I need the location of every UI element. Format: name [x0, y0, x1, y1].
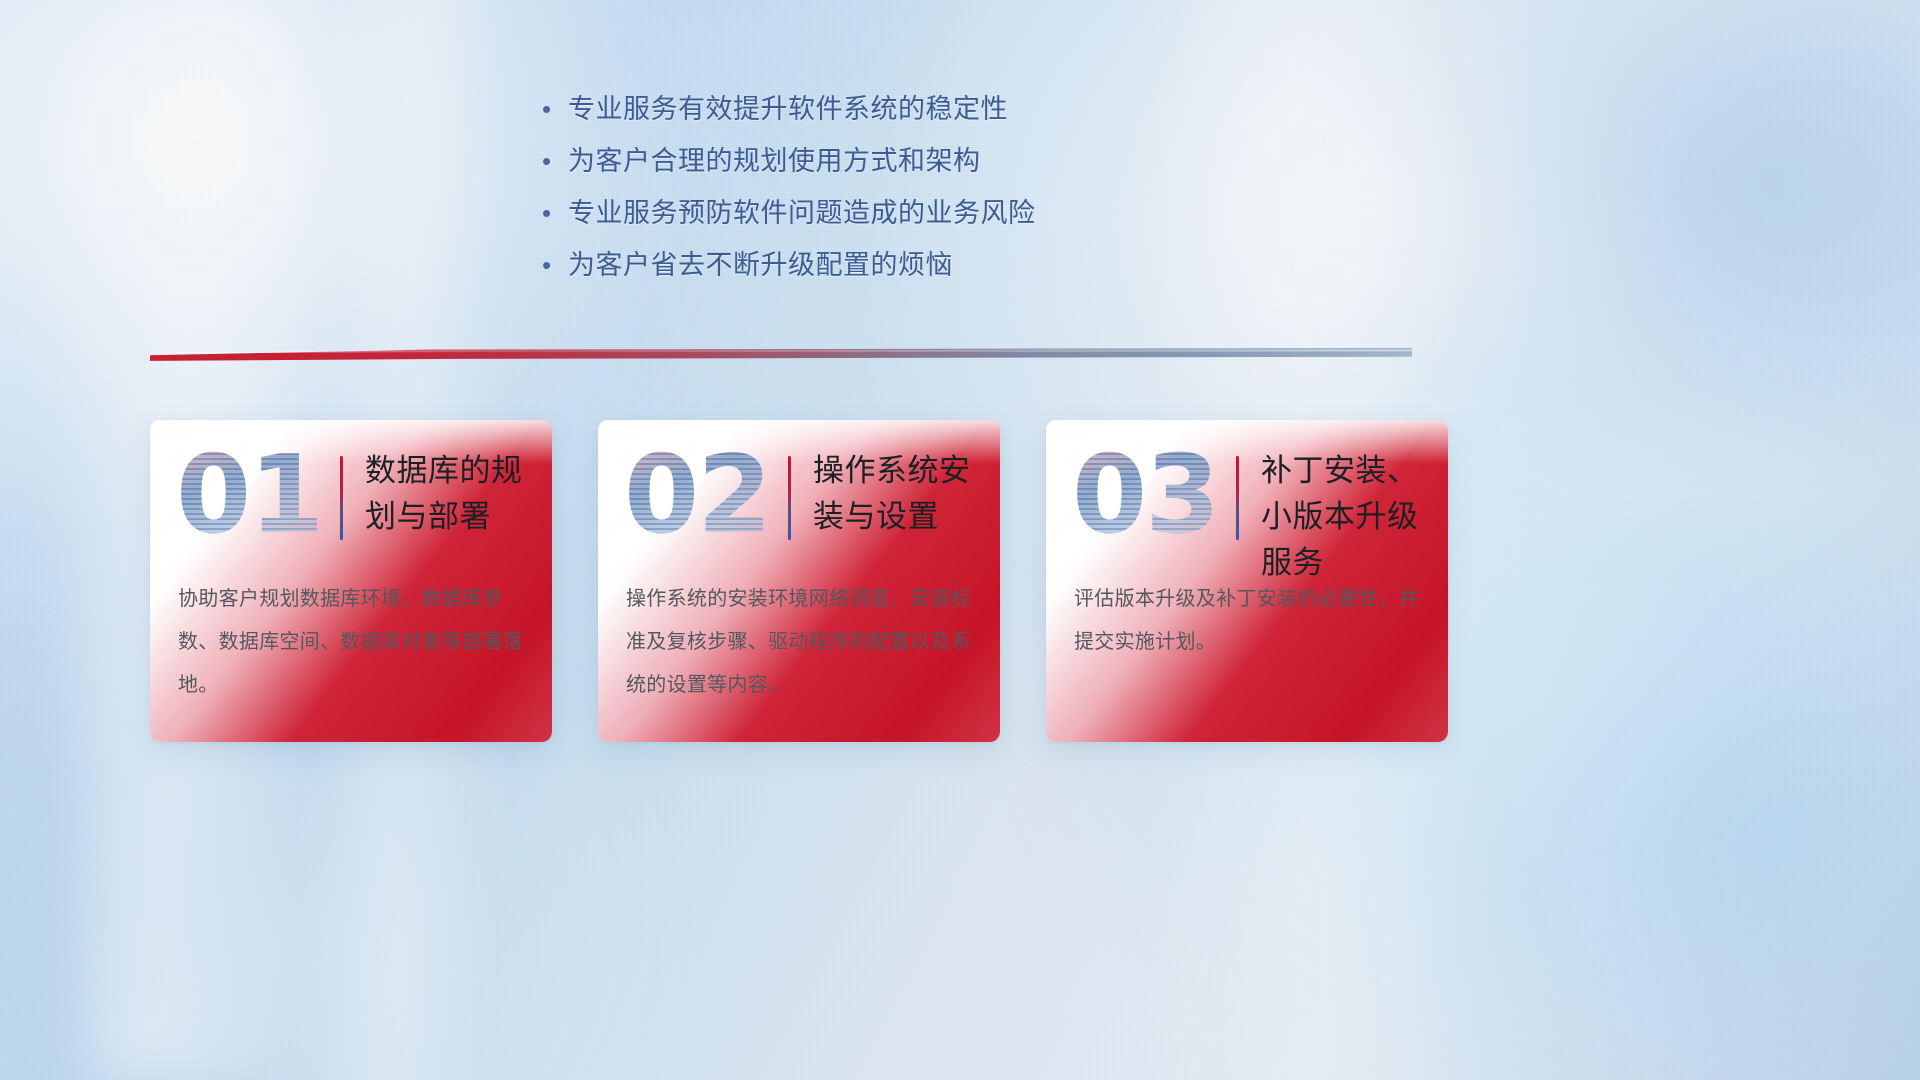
- benefits-bullet-list: • 专业服务有效提升软件系统的稳定性 • 为客户合理的规划使用方式和架构 • 专…: [538, 86, 1298, 294]
- service-card-02[interactable]: 02 02 操作系统安装与设置 操作系统的安装环境网络调查、安装标准及复核步骤、…: [598, 420, 1000, 742]
- bullet-dot-icon: •: [538, 86, 568, 132]
- card-title-rule: [788, 456, 791, 540]
- service-card-group: 01 01 数据库的规划与部署 协助客户规划数据库环境、数据库参数、数据库空间、…: [150, 420, 1450, 742]
- section-divider: [150, 348, 1412, 362]
- card-title: 操作系统安装与设置: [813, 448, 981, 540]
- bullet-dot-icon: •: [538, 242, 568, 288]
- bullet-text: 为客户合理的规划使用方式和架构: [568, 138, 981, 184]
- bullet-dot-icon: •: [538, 138, 568, 184]
- bullet-text: 专业服务预防软件问题造成的业务风险: [568, 190, 1036, 236]
- list-item: • 为客户省去不断升级配置的烦恼: [538, 242, 1298, 294]
- card-number: 02: [624, 442, 770, 550]
- card-title: 补丁安装、小版本升级服务: [1261, 448, 1429, 586]
- card-body-text: 操作系统的安装环境网络调查、安装标准及复核步骤、驱动程序的配置以及系统的设置等内…: [626, 578, 976, 707]
- slide-content: • 专业服务有效提升软件系统的稳定性 • 为客户合理的规划使用方式和架构 • 专…: [0, 0, 1920, 1080]
- card-title: 数据库的规划与部署: [365, 448, 533, 540]
- card-title-rule: [1236, 456, 1239, 540]
- card-title-rule: [340, 456, 343, 540]
- bullet-text: 专业服务有效提升软件系统的稳定性: [568, 86, 1008, 132]
- service-card-03[interactable]: 03 03 补丁安装、小版本升级服务 评估版本升级及补丁安装的必要性，并提交实施…: [1046, 420, 1448, 742]
- card-body-text: 评估版本升级及补丁安装的必要性，并提交实施计划。: [1074, 578, 1424, 664]
- service-card-01[interactable]: 01 01 数据库的规划与部署 协助客户规划数据库环境、数据库参数、数据库空间、…: [150, 420, 552, 742]
- list-item: • 专业服务有效提升软件系统的稳定性: [538, 86, 1298, 138]
- bullet-dot-icon: •: [538, 190, 568, 236]
- card-number: 01: [176, 442, 322, 550]
- bullet-text: 为客户省去不断升级配置的烦恼: [568, 242, 953, 288]
- card-number: 03: [1072, 442, 1218, 550]
- list-item: • 为客户合理的规划使用方式和架构: [538, 138, 1298, 190]
- list-item: • 专业服务预防软件问题造成的业务风险: [538, 190, 1298, 242]
- card-body-text: 协助客户规划数据库环境、数据库参数、数据库空间、数据库对象等部署落地。: [178, 578, 528, 707]
